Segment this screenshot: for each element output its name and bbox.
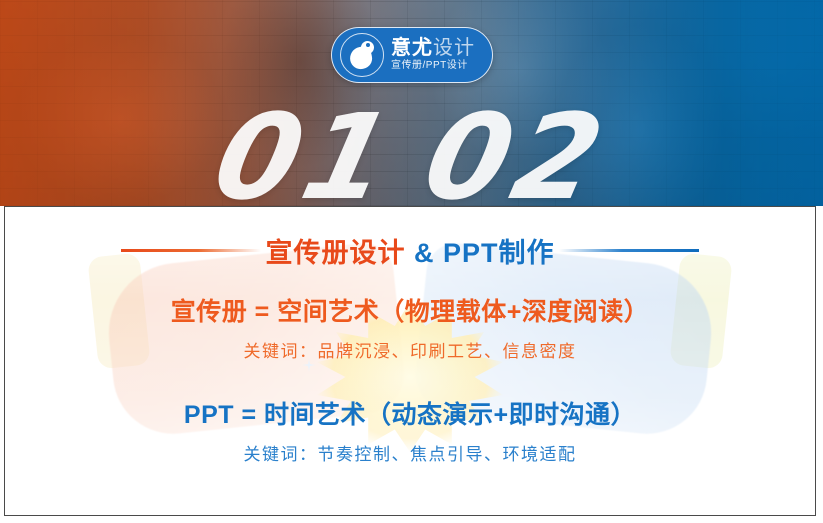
hero-numeral-01: 01 <box>202 88 410 206</box>
content-stack: 宣传册设计 & PPT制作 宣传册 = 空间艺术（物理载体+深度阅读） 关键词：… <box>5 231 815 465</box>
page-title-ampersand: & <box>405 238 443 268</box>
slide-root: 0102 意尤设计 宣传册/PPT设计 <box>0 0 823 523</box>
page-title: 宣传册设计 & PPT制作 <box>261 231 558 270</box>
section-heading: 宣传册设计 & PPT制作 <box>5 231 815 270</box>
hero-banner: 0102 意尤设计 宣传册/PPT设计 <box>0 0 823 206</box>
content-panel: 宣传册设计 & PPT制作 宣传册 = 空间艺术（物理载体+深度阅读） 关键词：… <box>4 206 816 516</box>
brand-name-bold: 意尤 <box>391 37 433 59</box>
heading-rule-left <box>121 249 261 252</box>
ppt-keywords: 关键词：节奏控制、焦点引导、环境适配 <box>5 440 815 465</box>
page-title-orange: 宣传册设计 <box>265 238 405 268</box>
ppt-statement: PPT = 时间艺术（动态演示+即时沟通） <box>5 395 815 431</box>
brand-logo-text: 意尤设计 宣传册/PPT设计 <box>391 38 475 72</box>
brand-logo-subtitle: 宣传册/PPT设计 <box>391 61 475 72</box>
brand-logo[interactable]: 意尤设计 宣传册/PPT设计 <box>331 27 493 83</box>
brand-logo-title: 意尤设计 <box>391 38 475 59</box>
hero-numerals: 0102 <box>0 98 823 206</box>
brochure-statement: 宣传册 = 空间艺术（物理载体+深度阅读） <box>5 292 815 328</box>
heading-rule-right <box>559 249 699 252</box>
brand-name-light: 设计 <box>433 37 475 59</box>
pen-nib-mark-icon <box>340 33 384 77</box>
hero-numeral-02: 02 <box>413 88 621 206</box>
brochure-keywords: 关键词：品牌沉浸、印刷工艺、信息密度 <box>5 337 815 362</box>
page-title-blue: PPT制作 <box>443 238 555 268</box>
